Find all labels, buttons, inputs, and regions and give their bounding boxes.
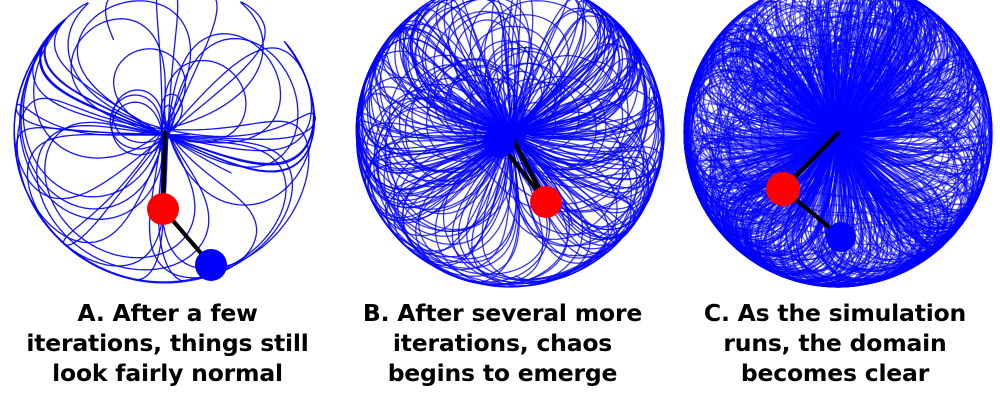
caption-line-1: A. After a few xyxy=(0,298,335,328)
caption-line-2: runs, the domain xyxy=(670,328,1000,358)
panel-a-plot xyxy=(0,0,335,300)
caption-line-3: becomes clear xyxy=(670,358,1000,388)
panel-c-caption: C. As the simulation runs, the domain be… xyxy=(670,298,1000,388)
panel-b-plot xyxy=(335,0,670,300)
panel-b-caption: B. After several more iterations, chaos … xyxy=(335,298,670,388)
caption-line-2: iterations, chaos xyxy=(335,328,670,358)
double-pendulum-figure: A. After a few iterations, things still … xyxy=(0,0,1000,400)
panel-c-plot xyxy=(670,0,1000,300)
red-mass xyxy=(530,186,562,218)
blue-mass xyxy=(483,126,515,158)
caption-line-1: B. After several more xyxy=(335,298,670,328)
red-mass xyxy=(147,193,179,225)
panel-a-caption: A. After a few iterations, things still … xyxy=(0,298,335,388)
caption-line-1: C. As the simulation xyxy=(670,298,1000,328)
caption-line-3: look fairly normal xyxy=(0,358,335,388)
panel-c: C. As the simulation runs, the domain be… xyxy=(670,0,1000,400)
blue-mass xyxy=(826,222,856,252)
red-mass xyxy=(766,172,800,206)
panel-b: B. After several more iterations, chaos … xyxy=(335,0,670,400)
blue-mass xyxy=(195,249,227,281)
panel-a: A. After a few iterations, things still … xyxy=(0,0,335,400)
caption-line-3: begins to emerge xyxy=(335,358,670,388)
caption-line-2: iterations, things still xyxy=(0,328,335,358)
